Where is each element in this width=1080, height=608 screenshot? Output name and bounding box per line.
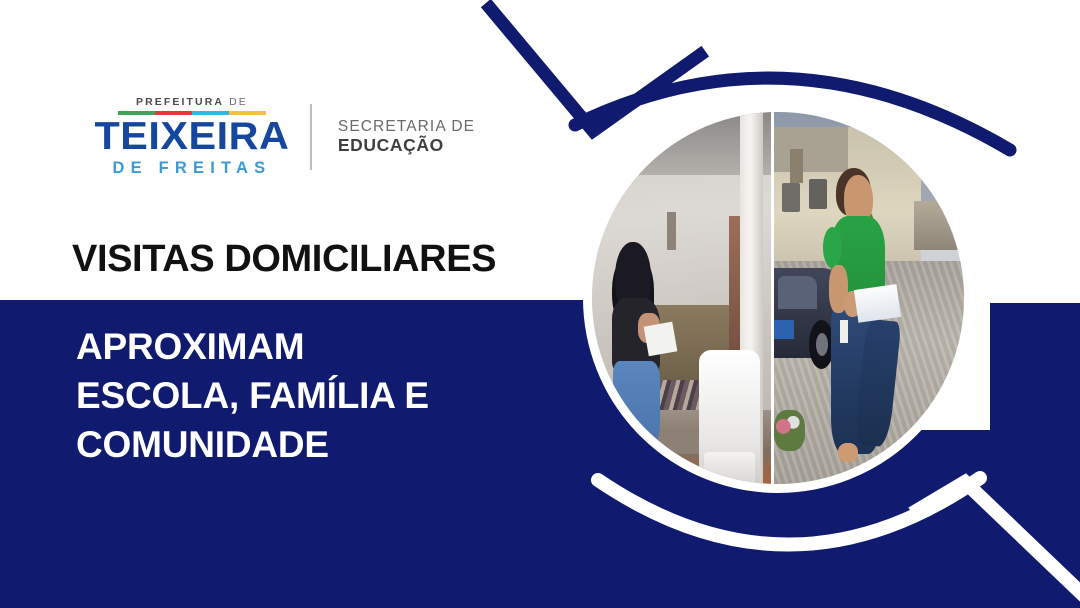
headline-secondary-line-1: APROXIMAM — [76, 322, 429, 371]
headline-primary: VISITAS DOMICILIARES — [72, 238, 496, 281]
city-hall-logo: PREFEITURA DE TEIXEIRA DE FREITAS — [100, 96, 284, 178]
photo-divider — [771, 112, 774, 484]
logo-prefeitura-light: DE — [224, 96, 248, 108]
headline-secondary: APROXIMAM ESCOLA, FAMÍLIA E COMUNIDADE — [76, 322, 429, 470]
headline-secondary-line-3: COMUNIDADE — [76, 420, 429, 469]
logo-city-name-sub: DE FREITAS — [113, 159, 272, 178]
photo-street-visit — [771, 112, 964, 484]
logo-prefeitura-strong: PREFEITURA — [136, 96, 224, 108]
secretariat-line-1: SECRETARIA DE — [338, 118, 475, 135]
logo-prefeitura-label: PREFEITURA DE — [136, 96, 248, 108]
logo-city-name: TEIXEIRA — [94, 119, 289, 155]
banner-canvas: PREFEITURA DE TEIXEIRA DE FREITAS SECRET… — [0, 0, 1080, 608]
photo-collage-circle — [583, 103, 973, 493]
logo-lockup: PREFEITURA DE TEIXEIRA DE FREITAS SECRET… — [100, 96, 475, 178]
photo-home-interior — [592, 112, 771, 484]
headline-secondary-line-2: ESCOLA, FAMÍLIA E — [76, 371, 429, 420]
photo-collage-inner — [592, 112, 964, 484]
navy-band-right — [990, 303, 1080, 608]
secretariat-line-2: EDUCAÇÃO — [338, 136, 475, 156]
secretariat-logo: SECRETARIA DE EDUCAÇÃO — [338, 118, 475, 155]
logo-divider — [310, 104, 312, 170]
